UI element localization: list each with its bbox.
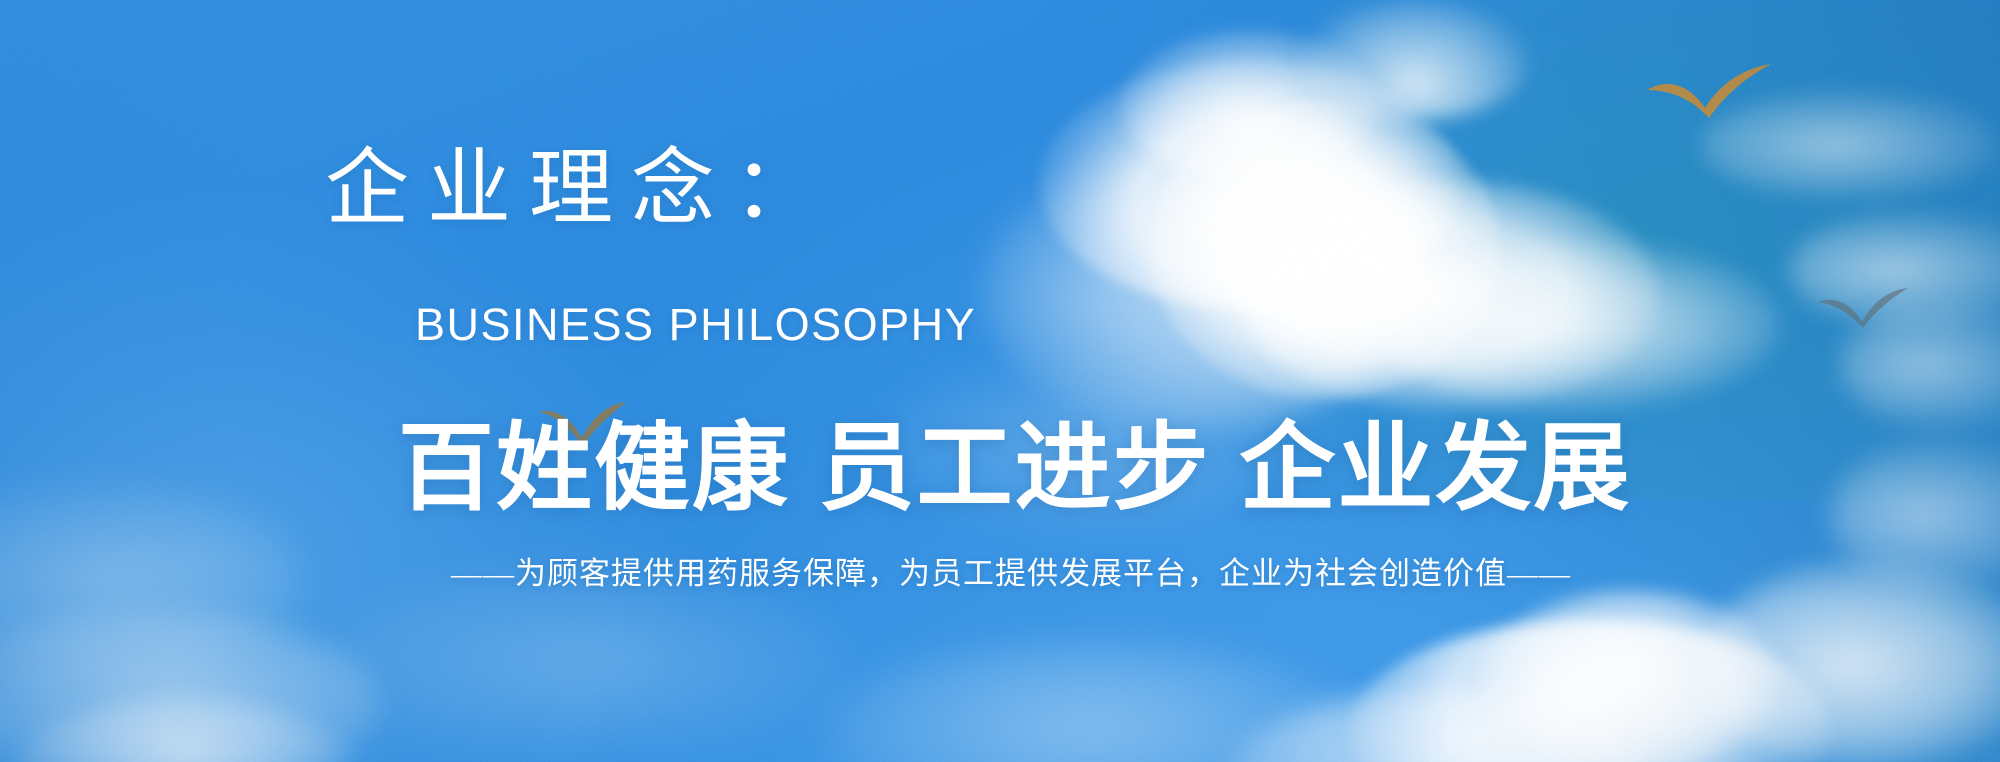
banner-title-english: BUSINESS PHILOSOPHY xyxy=(415,300,976,350)
banner-slogan: 百姓健康 员工进步 企业发展 xyxy=(398,410,1631,528)
banner-text-stack: 企业理念： BUSINESS PHILOSOPHY 百姓健康 员工进步 企业发展… xyxy=(0,0,2000,762)
banner-tagline: ——为顾客提供用药服务保障，为员工提供发展平台，企业为社会创造价值—— xyxy=(371,552,1651,596)
banner-title-chinese: 企业理念： xyxy=(325,142,835,234)
business-philosophy-banner: 企业理念： BUSINESS PHILOSOPHY 百姓健康 员工进步 企业发展… xyxy=(0,0,2000,762)
